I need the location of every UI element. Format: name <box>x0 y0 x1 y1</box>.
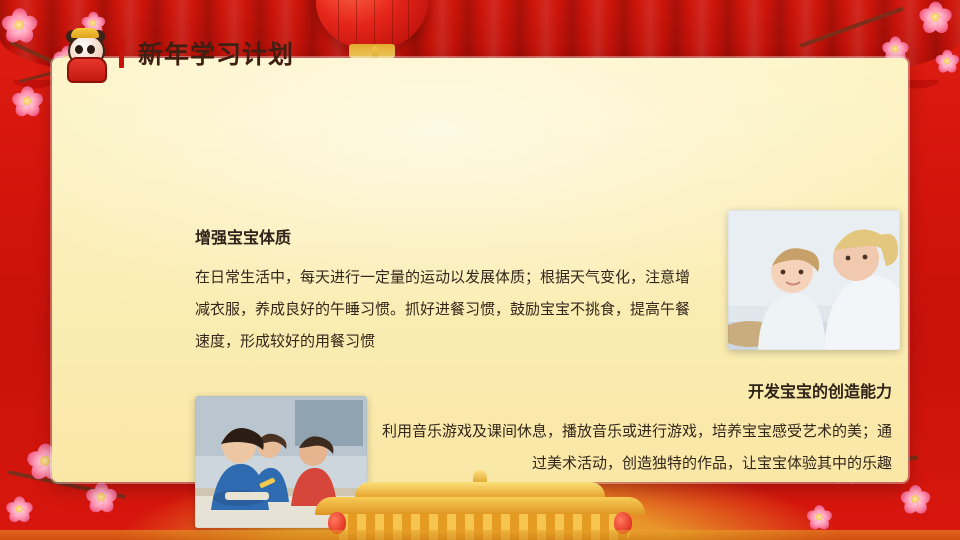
title-accent-bar <box>119 38 124 68</box>
content-block-1: 增强宝宝体质 在日常生活中，每天进行一定量的运动以发展体质；根据天气变化，注意增… <box>195 224 695 358</box>
photo-1-graphic <box>728 210 900 350</box>
mascot-hat <box>71 28 99 38</box>
slide: 增强宝宝体质 在日常生活中，每天进行一定量的运动以发展体质；根据天气变化，注意增… <box>0 0 960 540</box>
block-1-body: 在日常生活中，每天进行一定量的运动以发展体质；根据天气变化，注意增减衣服，养成良… <box>195 262 695 358</box>
roof-tier-2 <box>315 497 645 515</box>
content-block-2: 开发宝宝的创造能力 利用音乐游戏及课间休息，播放音乐或进行游戏，培养宝宝感受艺术… <box>372 378 892 480</box>
block-2-body: 利用音乐游戏及课间休息，播放音乐或进行游戏，培养宝宝感受艺术的美；通过美术活动，… <box>372 416 892 480</box>
mascot-eye-left <box>75 45 83 54</box>
page-title: 新年学习计划 <box>138 35 294 71</box>
mother-and-child-photo <box>728 210 900 350</box>
tiger-mascot-icon <box>63 26 107 80</box>
mascot-body <box>67 57 107 83</box>
block-2-heading: 开发宝宝的创造能力 <box>372 378 892 402</box>
roof-tier-1 <box>355 482 605 498</box>
content-panel: 增强宝宝体质 在日常生活中，每天进行一定量的运动以发展体质；根据天气变化，注意增… <box>52 58 908 482</box>
bottom-gold-strip <box>0 530 960 540</box>
slide-title-row: 新年学习计划 <box>63 26 294 80</box>
block-1-heading: 增强宝宝体质 <box>195 224 695 248</box>
mascot-eye-right <box>87 45 95 54</box>
